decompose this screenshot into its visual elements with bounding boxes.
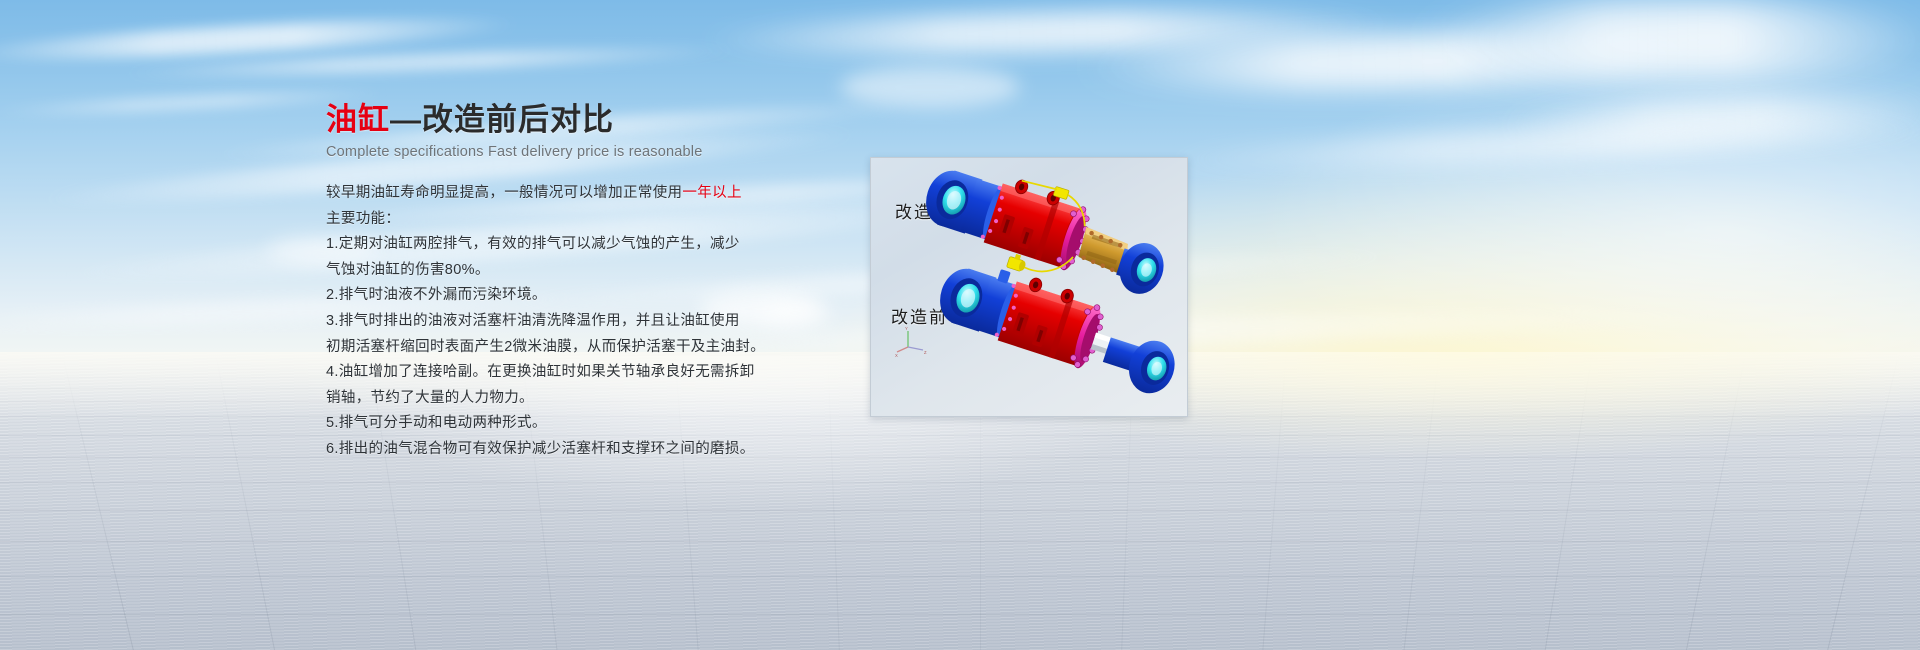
body-line: 初期活塞杆缩回时表面产生2微米油膜，从而保护活塞干及主油封。 xyxy=(326,335,946,361)
svg-text:Y: Y xyxy=(905,326,908,331)
body-line-text: 5.排气可分手动和电动两种形式。 xyxy=(326,415,547,431)
body-line: 4.油缸增加了连接哈副。在更换油缸时如果关节轴承良好无需拆卸 xyxy=(326,360,946,386)
cloud-puff xyxy=(840,66,1020,108)
body-line-text: 1.定期对油缸两腔排气，有效的排气可以减少气蚀的产生，减少 xyxy=(326,236,740,252)
body-line: 较早期油缸寿命明显提高，一般情况可以增加正常使用一年以上 xyxy=(326,181,946,207)
body-line-text: 销轴，节约了大量的人力物力。 xyxy=(326,390,534,406)
comparison-image-panel: 改造后 改造前 Y X Z xyxy=(870,157,1188,417)
body-line: 3.排气时排出的油液对活塞杆油清洗降温作用，并且让油缸使用 xyxy=(326,309,946,335)
svg-text:Z: Z xyxy=(924,350,927,355)
body-line-text: 4.油缸增加了连接哈副。在更换油缸时如果关节轴承良好无需拆卸 xyxy=(326,364,755,380)
body-line-text: 6.排出的油气混合物可有效保护减少活塞杆和支撑环之间的磨损。 xyxy=(326,441,755,457)
body-line: 销轴，节约了大量的人力物力。 xyxy=(326,386,946,412)
body-line: 2.排气时油液不外漏而污染环境。 xyxy=(326,283,946,309)
body-line: 主要功能： xyxy=(326,207,946,233)
hero-banner: 油缸—改造前后对比 Complete specifications Fast d… xyxy=(0,0,1920,650)
body-copy: 较早期油缸寿命明显提高，一般情况可以增加正常使用一年以上主要功能：1.定期对油缸… xyxy=(326,181,946,463)
title-rest: —改造前后对比 xyxy=(390,102,614,137)
ground-seam-horizontal xyxy=(0,510,1920,511)
ground-seam-horizontal xyxy=(0,576,1920,577)
body-line-text: 3.排气时排出的油液对活塞杆油清洗降温作用，并且让油缸使用 xyxy=(326,313,740,329)
copy-block: 油缸—改造前后对比 Complete specifications Fast d… xyxy=(326,104,946,463)
body-line: 5.排气可分手动和电动两种形式。 xyxy=(326,411,946,437)
body-line-text: 较早期油缸寿命明显提高，一般情况可以增加正常使用 xyxy=(326,185,682,201)
svg-text:X: X xyxy=(895,353,898,358)
ground-seam-horizontal xyxy=(0,614,1920,615)
ground-seam-horizontal xyxy=(0,541,1920,542)
page-title: 油缸—改造前后对比 xyxy=(326,104,946,135)
body-line-text: 主要功能： xyxy=(326,211,400,227)
body-line: 1.定期对油缸两腔排气，有效的排气可以减少气蚀的产生，减少 xyxy=(326,232,946,258)
title-accent: 油缸 xyxy=(326,102,390,137)
body-line-text: 气蚀对油缸的伤害80%。 xyxy=(326,262,490,278)
cloud-streak xyxy=(1420,0,1920,80)
body-line-text: 初期活塞杆缩回时表面产生2微米油膜，从而保护活塞干及主油封。 xyxy=(326,339,765,355)
body-line: 6.排出的油气混合物可有效保护减少活塞杆和支撑环之间的磨损。 xyxy=(326,437,946,463)
body-line-text: 2.排气时油液不外漏而污染环境。 xyxy=(326,287,547,303)
body-line-highlight: 一年以上 xyxy=(682,185,741,201)
body-line: 气蚀对油缸的伤害80%。 xyxy=(326,258,946,284)
page-subtitle: Complete specifications Fast delivery pr… xyxy=(326,144,946,160)
